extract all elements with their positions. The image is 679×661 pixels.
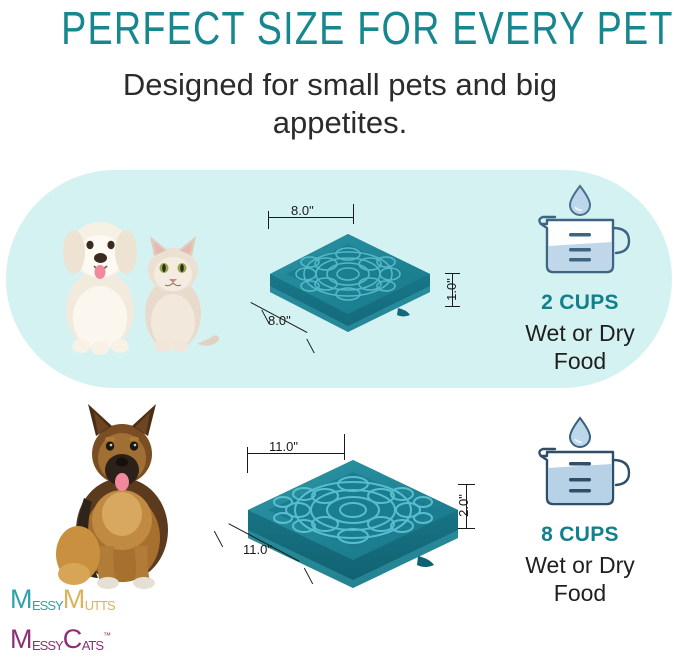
capacity-cups-small: 2 CUPS (495, 291, 665, 315)
capacity-food-line2-large: Food (495, 579, 665, 607)
capacity-block-small: 2 CUPS Wet or Dry Food (495, 180, 665, 375)
dimension-label-width-small: 8.0" (291, 203, 314, 218)
brand-logo-line-cats: MESSYCATS™ (10, 621, 180, 661)
water-droplet-icon (570, 418, 590, 447)
capacity-food-line2-small: Food (495, 347, 665, 375)
measuring-cup-icon (495, 180, 665, 280)
capacity-food-large: Wet or Dry Food (495, 551, 665, 607)
capacity-food-line1-small: Wet or Dry (495, 319, 665, 347)
page-headline: PERFECT SIZE FOR EVERY PET (61, 2, 618, 54)
capacity-food-line1-large: Wet or Dry (495, 551, 665, 579)
logo-essy2: ESSY (32, 638, 63, 653)
brand-logo: MESSYMUTTS MESSYCATS™ (10, 584, 180, 652)
dimension-label-height-large: 2.0" (456, 494, 471, 517)
logo-m1: M (10, 584, 32, 614)
product-row-small: 8.0" 8.0" 1.0" (0, 170, 679, 388)
pets-puppy-and-kitten (34, 192, 224, 357)
dimension-label-depth-small: 8.0" (268, 313, 291, 328)
logo-m3: M (10, 624, 32, 654)
dimension-label-height-small: 1.0" (444, 278, 459, 301)
dimension-label-width-large: 11.0" (269, 439, 298, 454)
logo-essy1: ESSY (32, 598, 63, 613)
slow-feeder-bowl-large (228, 438, 478, 598)
capacity-block-large: 8 CUPS Wet or Dry Food (495, 412, 665, 607)
logo-m2: M (63, 584, 85, 614)
logo-c1: C (63, 624, 82, 654)
logo-ats: ATS (82, 638, 103, 653)
page-subtitle: Designed for small pets and big appetite… (90, 66, 590, 142)
logo-trademark: ™ (103, 631, 111, 640)
capacity-cups-large: 8 CUPS (495, 523, 665, 547)
logo-utts: UTTS (85, 598, 115, 613)
water-droplet-icon (570, 186, 590, 215)
pet-german-shepherd (22, 398, 217, 590)
measuring-cup-icon (495, 412, 665, 512)
capacity-food-small: Wet or Dry Food (495, 319, 665, 375)
brand-logo-line-mutts: MESSYMUTTS (10, 584, 180, 621)
dimension-label-depth-large: 11.0" (243, 542, 272, 557)
